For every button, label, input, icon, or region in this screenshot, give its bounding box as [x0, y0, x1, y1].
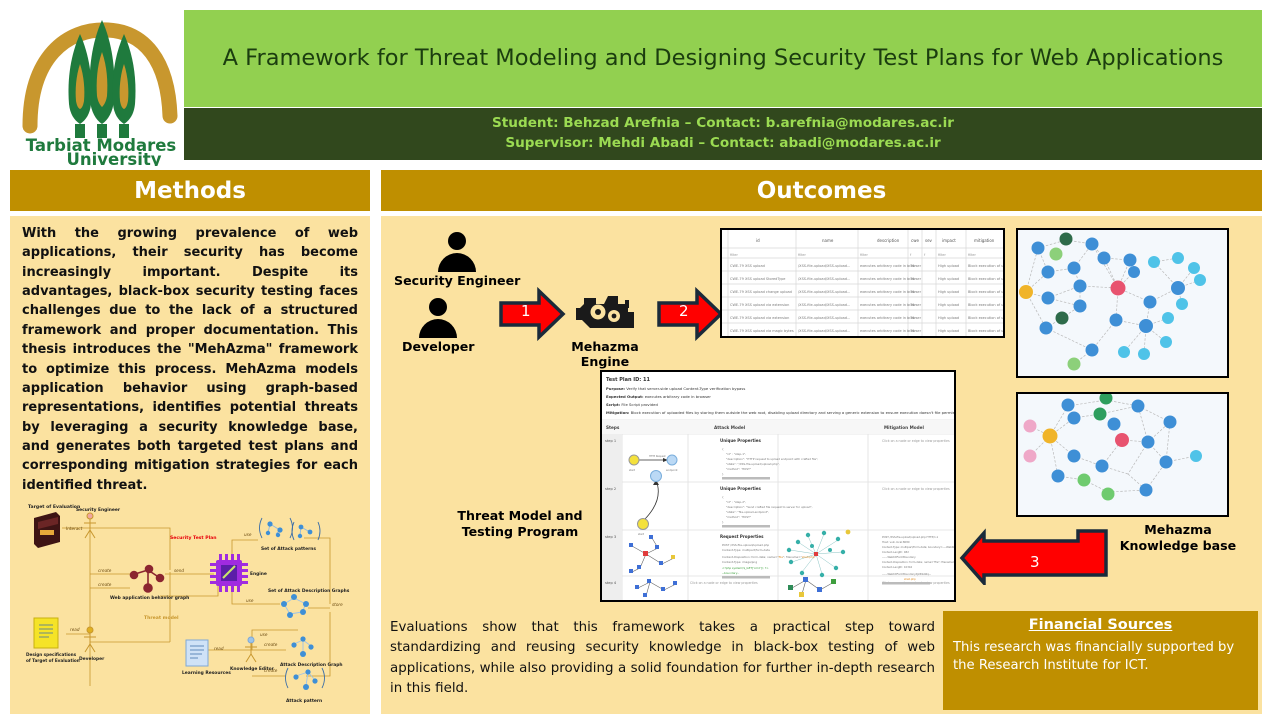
svg-text:/XSS-file-upload/XSS-upload...: /XSS-file-upload/XSS-upload...: [798, 303, 850, 307]
svg-text:Purpose: Verify that server-si: Purpose: Verify that server-side upload …: [606, 386, 745, 391]
svg-text:Mitigation Model: Mitigation Model: [884, 425, 924, 430]
university-logo: Tarbiat Modares University: [18, 8, 184, 166]
knowledge-graph-screenshot-2[interactable]: [1016, 392, 1229, 517]
server-icon: [34, 512, 60, 548]
svg-text:High upload: High upload: [938, 303, 959, 307]
svg-text:/XSS-file-upload/XSS-upload...: /XSS-file-upload/XSS-upload...: [798, 277, 850, 281]
svg-text:High upload: High upload: [938, 316, 959, 320]
svg-text:"id" : "step-2",: "id" : "step-2",: [726, 500, 746, 504]
svg-text:of Target of Evaluation: of Target of Evaluation: [26, 658, 80, 663]
svg-text:shell.php: shell.php: [904, 577, 916, 581]
svg-text:start: start: [629, 468, 635, 472]
svg-text:Steps: Steps: [606, 425, 620, 430]
svg-text:filter: filter: [730, 253, 738, 257]
svg-text:use: use: [246, 598, 254, 603]
svg-text:Test Plan ID: 11: Test Plan ID: 11: [606, 377, 651, 383]
svg-text:79: 79: [910, 290, 914, 294]
svg-text:Design specifications: Design specifications: [26, 652, 77, 657]
svg-text:High upload: High upload: [938, 264, 959, 268]
poster-canvas: Tarbiat Modares University A Framework f…: [0, 0, 1280, 720]
svg-text:High upload: High upload: [938, 329, 959, 333]
svg-text:use: use: [260, 632, 268, 637]
svg-text:"description": "HTTP request t: "description": "HTTP request to upload e…: [726, 457, 818, 461]
svg-text:name: name: [822, 238, 834, 243]
outcomes-section-header: Outcomes: [381, 170, 1262, 211]
svg-text:Click on a node or edge to vie: Click on a node or edge to view properti…: [882, 487, 950, 491]
svg-text:}: }: [722, 520, 724, 524]
svg-text:cwe: cwe: [911, 238, 919, 243]
svg-text:Block execution of up...: Block execution of up...: [968, 329, 1003, 333]
svg-text:------WebKitFormBoundary: ------WebKitFormBoundary: [882, 555, 916, 559]
svg-text:Script: File Script provided: Script: File Script provided: [606, 402, 658, 407]
svg-text:"method": "POST": "method": "POST": [726, 515, 752, 519]
svg-text:CWE-79 XSS upload StoredType: CWE-79 XSS upload StoredType: [730, 277, 785, 281]
methods-body-text: With the growing prevalence of web appli…: [22, 224, 358, 495]
svg-text:79: 79: [910, 303, 914, 307]
svg-text:CWE-79 XSS upload via extensio: CWE-79 XSS upload via extension: [730, 316, 789, 320]
threat-model-caption: Threat Model and Testing Program: [430, 508, 610, 539]
svg-text:Content-Length: 482: Content-Length: 482: [882, 550, 909, 554]
svg-text:Request Properties: Request Properties: [720, 534, 764, 539]
svg-text:"id" : "step-1",: "id" : "step-1",: [726, 452, 746, 456]
svg-text:Block execution of up...: Block execution of up...: [968, 290, 1003, 294]
svg-text:POST /XSS-file-upload/upload.p: POST /XSS-file-upload/upload.php: [722, 543, 769, 547]
svg-text:}: }: [722, 472, 724, 476]
document-icon-learning-resources: [186, 640, 208, 666]
mehazma-architecture-diagram: Target of Evaluation Interact Security E…: [22, 500, 359, 706]
svg-text:79: 79: [910, 277, 914, 281]
svg-text:Content-Disposition: form-data: Content-Disposition: form-data; name="fi…: [882, 560, 954, 564]
evaluation-text: Evaluations show that this framework tak…: [390, 618, 935, 700]
svg-text:create: create: [264, 668, 278, 673]
svg-text:Target of Evaluation: Target of Evaluation: [28, 504, 80, 510]
svg-text:Unique Properties: Unique Properties: [720, 486, 761, 491]
svg-text:------WebKitFormBoundaryXjkR9a: ------WebKitFormBoundaryXjkR9aWq--: [882, 572, 931, 576]
authors-band: Student: Behzad Arefnia – Contact: b.are…: [184, 108, 1262, 160]
svg-text:"state": "/XSS-file-upload/upl: "state": "/XSS-file-upload/upload.php",: [726, 462, 780, 466]
svg-text:Block execution of up...: Block execution of up...: [968, 316, 1003, 320]
logo-artwork: Tarbiat Modares University: [18, 8, 184, 166]
supervisor-contact: Supervisor: Mehdi Abadi – Contact: abadi…: [505, 134, 940, 154]
poster-title-band: A Framework for Threat Modeling and Desi…: [184, 10, 1262, 107]
financial-sources-body: This research was financially supported …: [953, 639, 1248, 675]
svg-text:"state": "file-upload-endpoint: "state": "file-upload-endpoint",: [726, 510, 769, 514]
actor-developer: Developer: [402, 298, 474, 354]
svg-text:start: start: [638, 532, 644, 536]
svg-text:use: use: [244, 532, 252, 537]
svg-text:Security Engineer: Security Engineer: [76, 507, 121, 513]
svg-text:Interact: Interact: [66, 526, 83, 531]
document-icon-design-spec: [34, 618, 58, 648]
svg-text:{: {: [722, 495, 724, 499]
financial-sources-box: Financial Sources This research was fina…: [943, 611, 1258, 710]
svg-text:79: 79: [910, 329, 914, 333]
svg-text:Attack Description Graph: Attack Description Graph: [280, 662, 343, 668]
arrow-number: 1: [521, 302, 531, 320]
student-contact: Student: Behzad Arefnia – Contact: b.are…: [492, 114, 954, 134]
svg-text:HTTP Request: HTTP Request: [649, 455, 666, 458]
flow-arrow-3: 3: [958, 527, 1110, 585]
svg-text:CWE-79 XSS upload via magic by: CWE-79 XSS upload via magic bytes: [730, 329, 794, 333]
svg-text:impact: impact: [942, 238, 956, 243]
svg-text:id: id: [756, 238, 760, 243]
svg-text:step 4: step 4: [605, 581, 617, 585]
svg-text:sev: sev: [925, 238, 933, 243]
svg-text:read: read: [214, 646, 224, 651]
svg-text:Engine: Engine: [250, 571, 267, 577]
svg-text:Content-Length: 10342: Content-Length: 10342: [882, 565, 912, 569]
svg-text:Click on a node or edge to vie: Click on a node or edge to view properti…: [690, 581, 758, 585]
svg-text:Content-Disposition: form-data: Content-Disposition: form-data; name="fi…: [722, 555, 817, 559]
svg-text:Content-Type: multipart/form-d: Content-Type: multipart/form-data; bound…: [882, 545, 954, 549]
mehazma-engine-block: Mehazma Engine: [570, 288, 640, 370]
arrow-number: 2: [679, 302, 689, 320]
svg-text:"method": "POST": "method": "POST": [726, 467, 752, 471]
svg-text:Content-Type: image/png: Content-Type: image/png: [722, 560, 757, 564]
svg-text:Set of Attack patterns: Set of Attack patterns: [261, 546, 316, 552]
logo-text-line2: University: [66, 150, 161, 166]
svg-text:filter: filter: [968, 253, 976, 257]
person-icon: [416, 298, 460, 338]
methods-section-header: Methods: [10, 170, 370, 211]
svg-text:Attack pattern: Attack pattern: [286, 698, 322, 704]
svg-text:Block execution of up...: Block execution of up...: [968, 277, 1003, 281]
engine-label: Mehazma Engine: [571, 339, 639, 370]
svg-text:Web application behavior graph: Web application behavior graph: [110, 595, 189, 601]
actor-label: Security Engineer: [394, 273, 520, 288]
svg-text:step 1: step 1: [605, 439, 616, 443]
svg-text:/XSS-file-upload/XSS-upload...: /XSS-file-upload/XSS-upload...: [798, 329, 850, 333]
svg-text:79: 79: [910, 316, 914, 320]
actor-label: Developer: [402, 339, 474, 354]
svg-text:POST /XSS-file-upload/upload.p: POST /XSS-file-upload/upload.php HTTP/1.…: [882, 535, 939, 539]
svg-text:--boundary--: --boundary--: [722, 571, 739, 575]
svg-text:filter: filter: [798, 253, 806, 257]
svg-text:High upload: High upload: [938, 290, 959, 294]
svg-text:mitigation: mitigation: [974, 238, 995, 243]
svg-text:<?php system($_GET['cmd']); ?>: <?php system($_GET['cmd']); ?>: [722, 566, 769, 570]
arrow-number: 3: [1030, 553, 1040, 571]
svg-text:send: send: [174, 568, 184, 573]
person-icon: [435, 232, 479, 272]
svg-text:Learning Resources: Learning Resources: [182, 670, 231, 676]
methods-panel: With the growing prevalence of web appli…: [10, 216, 370, 714]
svg-text:read: read: [70, 627, 80, 632]
svg-text:Mitigation: Block execution of: Mitigation: Block execution of uploaded …: [606, 410, 954, 415]
svg-text:Security Test Plan: Security Test Plan: [170, 535, 217, 541]
financial-sources-title: Financial Sources: [953, 617, 1248, 633]
svg-text:Threat model: Threat model: [144, 615, 179, 621]
svg-text:Unique Properties: Unique Properties: [720, 438, 761, 443]
svg-text:/XSS-file-upload/XSS-upload...: /XSS-file-upload/XSS-upload...: [798, 264, 850, 268]
svg-text:step 2: step 2: [605, 487, 616, 491]
svg-text:"description": "Send crafted f: "description": "Send crafted file reques…: [726, 505, 813, 509]
actor-security-engineer: Security Engineer: [394, 232, 520, 288]
svg-text:Expected Output: executes arbi: Expected Output: executes arbitrary code…: [606, 394, 711, 399]
svg-text:{: {: [722, 447, 724, 451]
test-plan-screenshot[interactable]: Test Plan ID: 11 Purpose: Verify that se…: [600, 370, 956, 602]
threat-table-screenshot[interactable]: idnamedescription cwesevimpactmitigation…: [720, 228, 1005, 338]
page-title: A Framework for Threat Modeling and Desi…: [223, 44, 1224, 73]
svg-text:/XSS-file-upload/XSS-upload...: /XSS-file-upload/XSS-upload...: [798, 290, 850, 294]
svg-text:Host: vuln.local:8080: Host: vuln.local:8080: [882, 540, 910, 544]
svg-text:Block execution of up...: Block execution of up...: [968, 264, 1003, 268]
svg-text:/XSS-file-upload/XSS-upload...: /XSS-file-upload/XSS-upload...: [798, 316, 850, 320]
svg-text:filter: filter: [860, 253, 868, 257]
svg-text:store: store: [332, 602, 343, 607]
svg-text:CWE-79 XSS upload: CWE-79 XSS upload: [730, 264, 765, 268]
svg-text:High upload: High upload: [938, 277, 959, 281]
svg-text:Set of Attack Description Grap: Set of Attack Description Graphs: [268, 588, 350, 594]
svg-text:CWE-79 XSS upload via extensio: CWE-79 XSS upload via extension: [730, 303, 789, 307]
svg-text:Block execution of up...: Block execution of up...: [968, 303, 1003, 307]
knowledge-graph-screenshot-1[interactable]: [1016, 228, 1229, 378]
svg-text:CWE-79 XSS upload change uploa: CWE-79 XSS upload change upload: [730, 290, 792, 294]
svg-text:create: create: [264, 642, 278, 647]
svg-text:79: 79: [910, 264, 914, 268]
svg-text:create: create: [98, 568, 112, 573]
flow-arrow-2: 2: [655, 287, 725, 341]
svg-text:Content-Type: multipart/form-d: Content-Type: multipart/form-data: [722, 548, 770, 552]
svg-text:Attack Model: Attack Model: [714, 425, 746, 430]
svg-text:create: create: [98, 582, 112, 587]
svg-text:Click on a node or edge to vie: Click on a node or edge to view properti…: [882, 439, 950, 443]
knowledge-base-caption: Mehazma Knowledge base: [1108, 522, 1248, 553]
svg-text:filter: filter: [938, 253, 946, 257]
svg-text:description: description: [877, 238, 900, 243]
flow-arrow-1: 1: [497, 287, 567, 341]
svg-text:Developer: Developer: [79, 656, 105, 662]
svg-text:endpoint: endpoint: [666, 468, 678, 472]
engine-icon: [570, 288, 640, 338]
